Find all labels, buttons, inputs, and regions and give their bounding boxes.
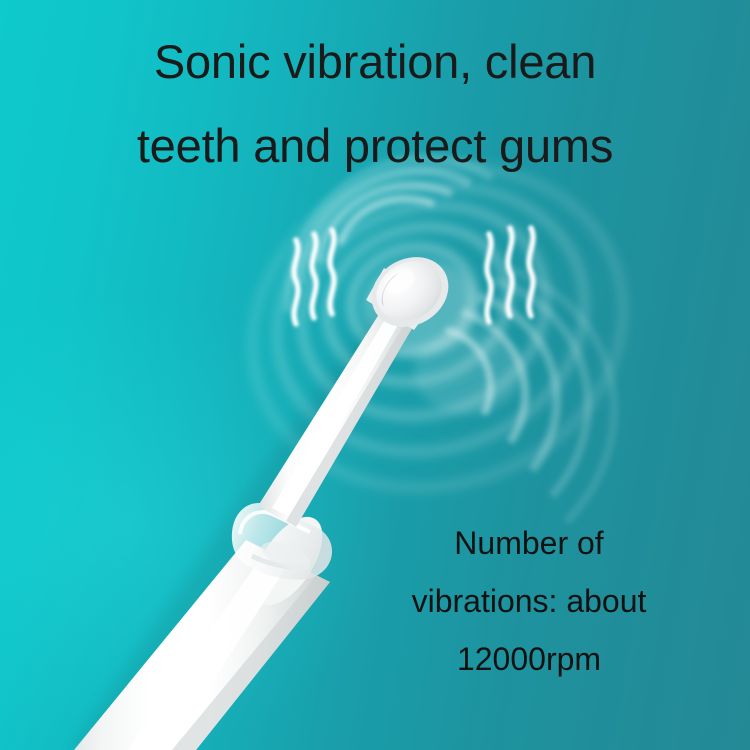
headline: Sonic vibration, clean teeth and protect…: [0, 20, 750, 188]
spec-line-3: 12000rpm: [364, 630, 694, 688]
product-banner: Sonic vibration, clean teeth and protect…: [0, 0, 750, 750]
spec-line-1: Number of: [364, 514, 694, 572]
headline-line-2: teeth and protect gums: [0, 104, 750, 188]
headline-line-1: Sonic vibration, clean: [0, 20, 750, 104]
background-glow: [0, 300, 390, 750]
spec-line-2: vibrations: about: [364, 572, 694, 630]
spec-callout: Number of vibrations: about 12000rpm: [364, 514, 694, 688]
